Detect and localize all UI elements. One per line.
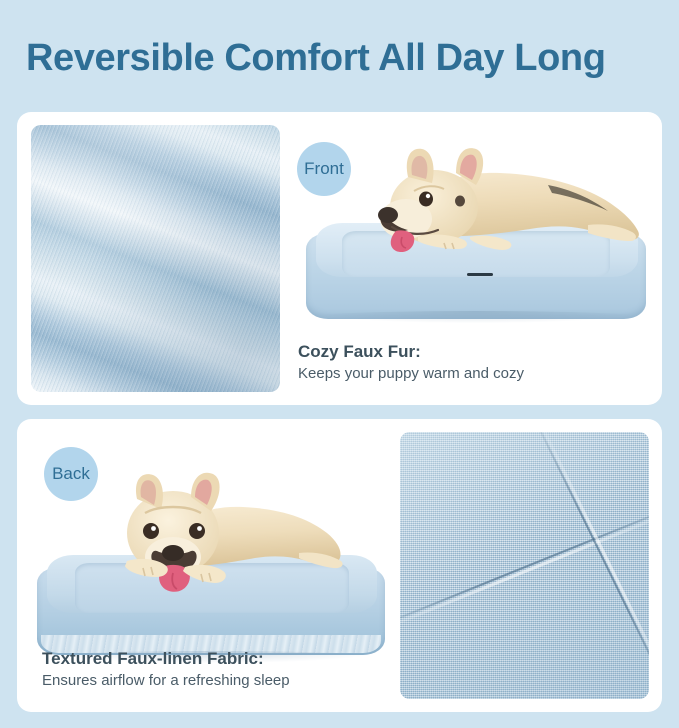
badge-back-label: Back <box>52 464 90 484</box>
faux-fur-texture-swatch <box>31 125 280 392</box>
feature-card-front: Front Cozy Faux Fur: Keeps your puppy wa… <box>17 112 662 405</box>
feature-card-back: Back Textured Faux-linen Fabric: Ensures… <box>17 419 662 712</box>
caption-back-title: Textured Faux-linen Fabric: <box>42 648 290 670</box>
french-bulldog-side-illustration <box>352 133 652 283</box>
caption-back-sub: Ensures airflow for a refreshing sleep <box>42 670 290 692</box>
fur-shading <box>31 125 280 392</box>
page-title: Reversible Comfort All Day Long <box>26 33 666 83</box>
badge-front-label: Front <box>304 159 344 179</box>
pet-bed-fur-side <box>300 125 652 375</box>
faux-linen-texture-swatch <box>400 432 649 699</box>
caption-front: Cozy Faux Fur: Keeps your puppy warm and… <box>298 341 524 385</box>
badge-front: Front <box>297 142 351 196</box>
caption-back: Textured Faux-linen Fabric: Ensures airf… <box>42 648 290 692</box>
french-bulldog-front-illustration <box>93 461 353 621</box>
bed-drop-shadow <box>310 311 642 323</box>
dog-on-bed-fur-side-photo <box>300 125 652 375</box>
caption-front-sub: Keeps your puppy warm and cozy <box>298 363 524 385</box>
badge-back: Back <box>44 447 98 501</box>
caption-front-title: Cozy Faux Fur: <box>298 341 524 363</box>
